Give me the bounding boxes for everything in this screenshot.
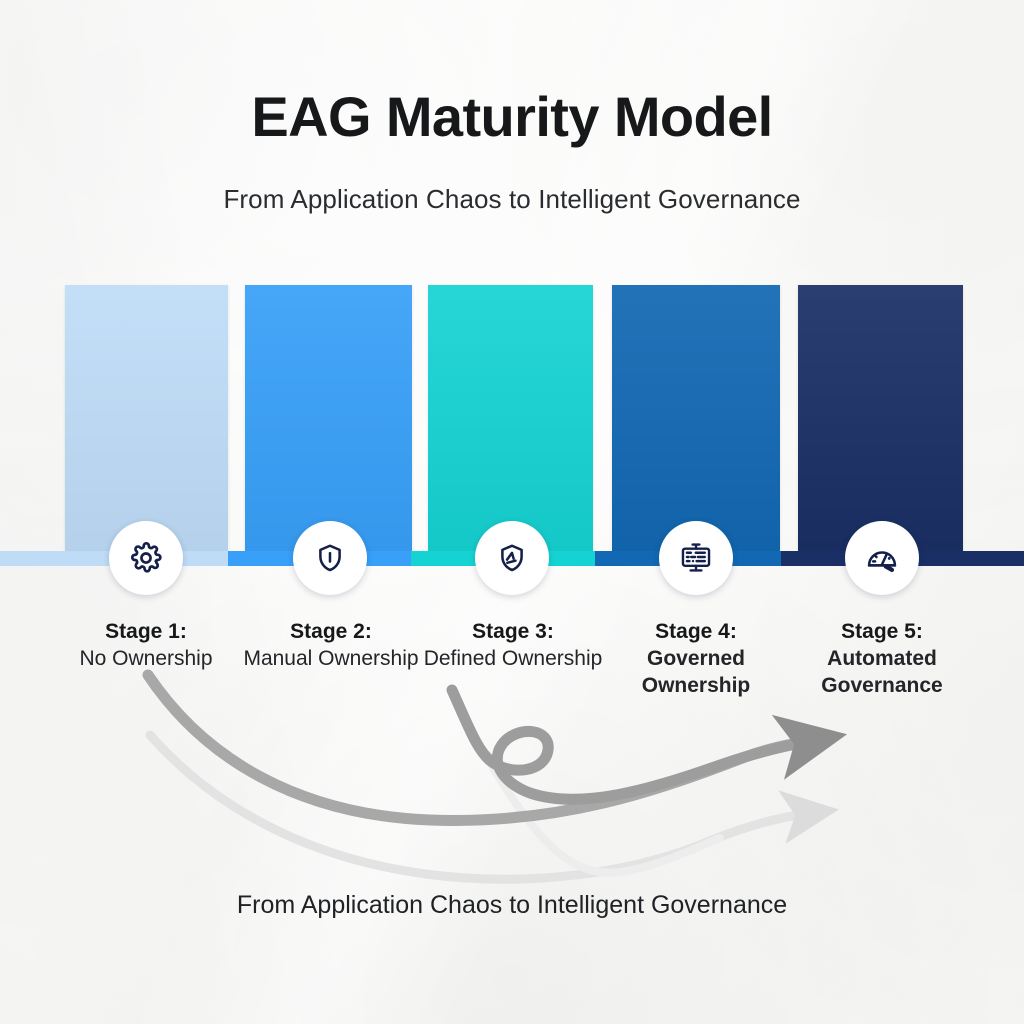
stage-icon-badge-4[interactable]: [659, 521, 733, 595]
stage-label-3: Stage 3:Defined Ownership: [418, 619, 608, 673]
stage-icon-badge-3[interactable]: [475, 521, 549, 595]
maturity-bar-2: [245, 285, 412, 551]
maturity-bar-chart: [0, 0, 1024, 1024]
stage-label-5: Stage 5:Automated Governance: [787, 619, 977, 700]
maturity-bar-5: [798, 285, 963, 551]
stage-description-5: Automated Governance: [787, 646, 977, 700]
stage-icon-badge-1[interactable]: [109, 521, 183, 595]
stage-icon-badge-2[interactable]: [293, 521, 367, 595]
stage-number-1: Stage 1:: [51, 619, 241, 646]
stage-label-2: Stage 2:Manual Ownership: [236, 619, 426, 673]
footer-caption: From Application Chaos to Intelligent Go…: [0, 891, 1024, 920]
stage-description-2: Manual Ownership: [236, 646, 426, 673]
stage-number-5: Stage 5:: [787, 619, 977, 646]
stage-label-4: Stage 4:Governed Ownership: [601, 619, 791, 700]
infographic-canvas: EAG Maturity Model From Application Chao…: [0, 0, 1024, 1024]
maturity-bar-3: [428, 285, 593, 551]
stage-description-4: Governed Ownership: [601, 646, 791, 700]
stage-description-1: No Ownership: [51, 646, 241, 673]
maturity-bar-1: [65, 285, 228, 551]
shield-check-icon: [496, 542, 528, 574]
gear-icon: [129, 541, 163, 575]
stage-icon-badge-5[interactable]: [845, 521, 919, 595]
shield-icon: [314, 542, 346, 574]
stage-description-3: Defined Ownership: [418, 646, 608, 673]
stage-number-2: Stage 2:: [236, 619, 426, 646]
dashboard-monitor-icon: [679, 541, 713, 575]
maturity-bar-4: [612, 285, 780, 551]
stage-label-1: Stage 1:No Ownership: [51, 619, 241, 673]
gauge-speedometer-icon: [865, 541, 899, 575]
stage-number-3: Stage 3:: [418, 619, 608, 646]
stage-number-4: Stage 4:: [601, 619, 791, 646]
